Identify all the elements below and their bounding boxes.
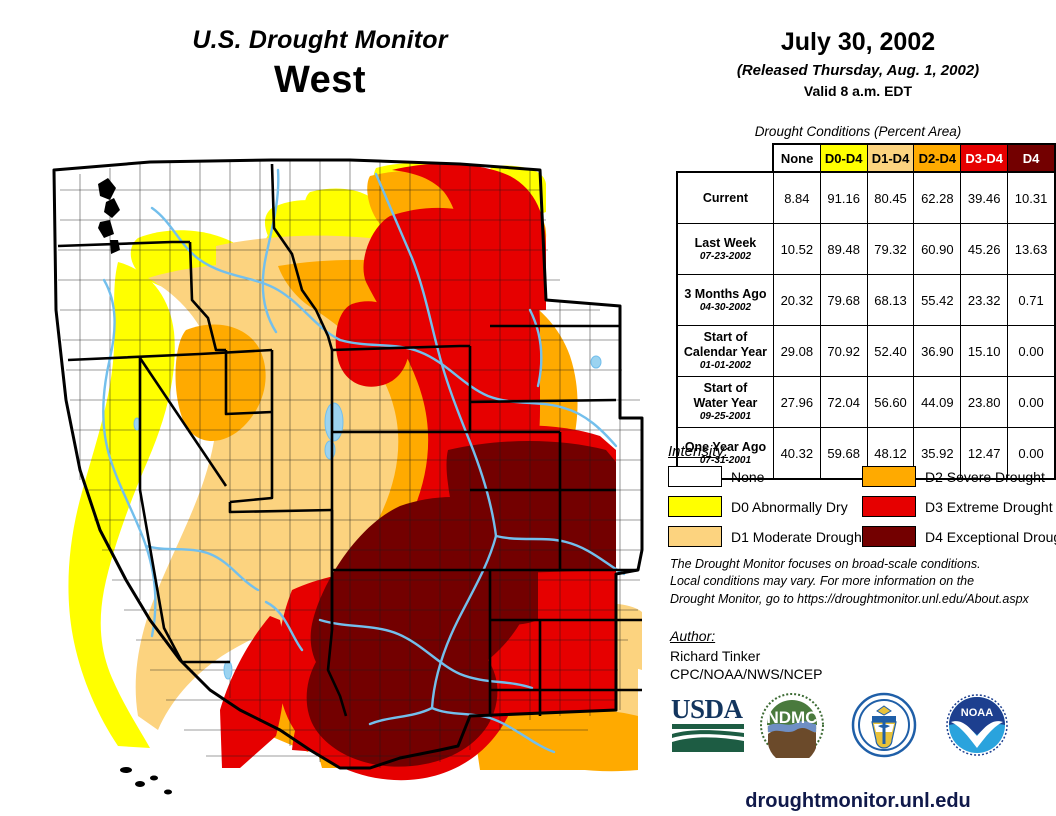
legend-swatch-d2 [862, 466, 916, 487]
row-date: 04-30-2002 [681, 302, 770, 314]
table-row: 3 Months Ago04-30-200220.3279.6868.1355.… [677, 275, 1055, 326]
column-header-d2-d4: D2-D4 [914, 144, 961, 172]
cell-d3-d4: 23.32 [961, 275, 1008, 326]
cell-d2-d4: 60.90 [914, 224, 961, 275]
page-title: U.S. Drought Monitor [0, 26, 640, 55]
cell-d2-d4: 62.28 [914, 172, 961, 224]
drought-map-svg[interactable] [40, 150, 660, 800]
legend-item-d0[interactable]: D0 Abnormally Dry [668, 496, 862, 517]
cell-d2-d4: 44.09 [914, 377, 961, 428]
legend-label-none: None [731, 469, 764, 485]
column-header-d0-d4: D0-D4 [820, 144, 867, 172]
legend-label-d1: D1 Moderate Drought [731, 529, 866, 545]
map-title-block: U.S. Drought Monitor West [0, 26, 640, 102]
commerce-seal-icon [850, 692, 918, 763]
legend-swatch-none [668, 466, 722, 487]
legend-swatch-d1 [668, 526, 722, 547]
legend-label-d4: D4 Exceptional Drought [925, 529, 1056, 545]
cell-none: 8.84 [773, 172, 820, 224]
cell-d4: 0.71 [1008, 275, 1055, 326]
intensity-legend: Intensity: NoneD2 Severe DroughtD0 Abnor… [668, 443, 1056, 547]
cell-d0-d4: 70.92 [820, 326, 867, 377]
cell-none: 29.08 [773, 326, 820, 377]
noaa-logo: NOAA [942, 692, 1012, 763]
svg-text:USDA: USDA [671, 694, 744, 724]
column-header-d1-d4: D1-D4 [867, 144, 914, 172]
cell-none: 27.96 [773, 377, 820, 428]
svg-text:NDMC: NDMC [767, 708, 818, 727]
drought-map[interactable] [40, 150, 660, 800]
date-block: July 30, 2002 (Released Thursday, Aug. 1… [660, 28, 1056, 99]
logo-row: USDA NDMC [660, 692, 1056, 764]
cell-d4: 13.63 [1008, 224, 1055, 275]
cell-d4: 0.00 [1008, 377, 1055, 428]
legend-item-d2[interactable]: D2 Severe Drought [862, 466, 1056, 487]
cell-d0-d4: 89.48 [820, 224, 867, 275]
row-label: Start ofCalendar Year01-01-2002 [677, 326, 773, 377]
legend-item-d4[interactable]: D4 Exceptional Drought [862, 526, 1056, 547]
row-label: Last Week07-23-2002 [677, 224, 773, 275]
site-url[interactable]: droughtmonitor.unl.edu [660, 790, 1056, 813]
legend-label-d0: D0 Abnormally Dry [731, 499, 848, 515]
svg-text:NOAA: NOAA [961, 707, 993, 719]
table-row: Start ofCalendar Year01-01-200229.0870.9… [677, 326, 1055, 377]
legend-label-d2: D2 Severe Drought [925, 469, 1045, 485]
salton-sea [224, 661, 232, 679]
author-block: Author: Richard Tinker CPC/NOAA/NWS/NCEP [670, 628, 1050, 682]
table-row: Last Week07-23-200210.5289.4879.3260.904… [677, 224, 1055, 275]
disclaimer-text: The Drought Monitor focuses on broad-sca… [670, 556, 1050, 608]
legend-swatch-d4 [862, 526, 916, 547]
valid-time: Valid 8 a.m. EDT [660, 83, 1056, 99]
cell-d1-d4: 80.45 [867, 172, 914, 224]
cell-d4: 0.00 [1008, 326, 1055, 377]
usda-logo: USDA [668, 692, 748, 759]
cell-d3-d4: 39.46 [961, 172, 1008, 224]
table-row: Current8.8491.1680.4562.2839.4610.31 [677, 172, 1055, 224]
map-drought-layer [54, 160, 642, 780]
cell-d0-d4: 91.16 [820, 172, 867, 224]
legend-swatch-d0 [668, 496, 722, 517]
region-title: West [0, 59, 640, 102]
legend-label-d3: D3 Extreme Drought [925, 499, 1053, 515]
author-name: Richard Tinker [670, 648, 1050, 664]
row-label: Start ofWater Year09-25-2001 [677, 377, 773, 428]
drought-conditions-table: NoneD0-D4D1-D4D2-D4D3-D4D4 Current8.8491… [676, 143, 1056, 480]
legend-title: Intensity: [668, 443, 1056, 460]
author-label: Author: [670, 628, 1050, 644]
cell-d1-d4: 56.60 [867, 377, 914, 428]
cell-d0-d4: 72.04 [820, 377, 867, 428]
legend-item-d3[interactable]: D3 Extreme Drought [862, 496, 1056, 517]
cell-d3-d4: 23.80 [961, 377, 1008, 428]
disclaimer-line-3: Drought Monitor, go to https://droughtmo… [670, 591, 1050, 608]
column-header-d4: D4 [1008, 144, 1055, 172]
legend-swatch-d3 [862, 496, 916, 517]
table-body: Current8.8491.1680.4562.2839.4610.31Last… [677, 172, 1055, 479]
report-date: July 30, 2002 [660, 28, 1056, 57]
cell-d3-d4: 15.10 [961, 326, 1008, 377]
author-org: CPC/NOAA/NWS/NCEP [670, 666, 1050, 682]
cell-none: 10.52 [773, 224, 820, 275]
legend-item-none[interactable]: None [668, 466, 862, 487]
cell-d1-d4: 52.40 [867, 326, 914, 377]
cell-d0-d4: 79.68 [820, 275, 867, 326]
row-label: 3 Months Ago04-30-2002 [677, 275, 773, 326]
disclaimer-line-2: Local conditions may vary. For more info… [670, 573, 1050, 590]
column-header-d3-d4: D3-D4 [961, 144, 1008, 172]
cell-none: 20.32 [773, 275, 820, 326]
row-date: 09-25-2001 [681, 411, 770, 423]
row-date: 07-23-2002 [681, 251, 770, 263]
legend-grid: NoneD2 Severe DroughtD0 Abnormally DryD3… [668, 466, 1056, 547]
release-date: (Released Thursday, Aug. 1, 2002) [660, 62, 1056, 79]
cell-d2-d4: 36.90 [914, 326, 961, 377]
legend-item-d1[interactable]: D1 Moderate Drought [668, 526, 862, 547]
table-row: Start ofWater Year09-25-200127.9672.0456… [677, 377, 1055, 428]
table-corner-blank [677, 144, 773, 172]
row-label: Current [677, 172, 773, 224]
column-header-none: None [773, 144, 820, 172]
great-salt-lake [325, 403, 343, 441]
table-caption: Drought Conditions (Percent Area) [660, 124, 1056, 139]
disclaimer-line-1: The Drought Monitor focuses on broad-sca… [670, 556, 1050, 573]
row-date: 01-01-2002 [681, 360, 770, 372]
cell-d2-d4: 55.42 [914, 275, 961, 326]
ndmc-logo: NDMC [756, 692, 828, 763]
cell-d1-d4: 79.32 [867, 224, 914, 275]
cell-d1-d4: 68.13 [867, 275, 914, 326]
cell-d3-d4: 45.26 [961, 224, 1008, 275]
table-header-row: NoneD0-D4D1-D4D2-D4D3-D4D4 [677, 144, 1055, 172]
cell-d4: 10.31 [1008, 172, 1055, 224]
